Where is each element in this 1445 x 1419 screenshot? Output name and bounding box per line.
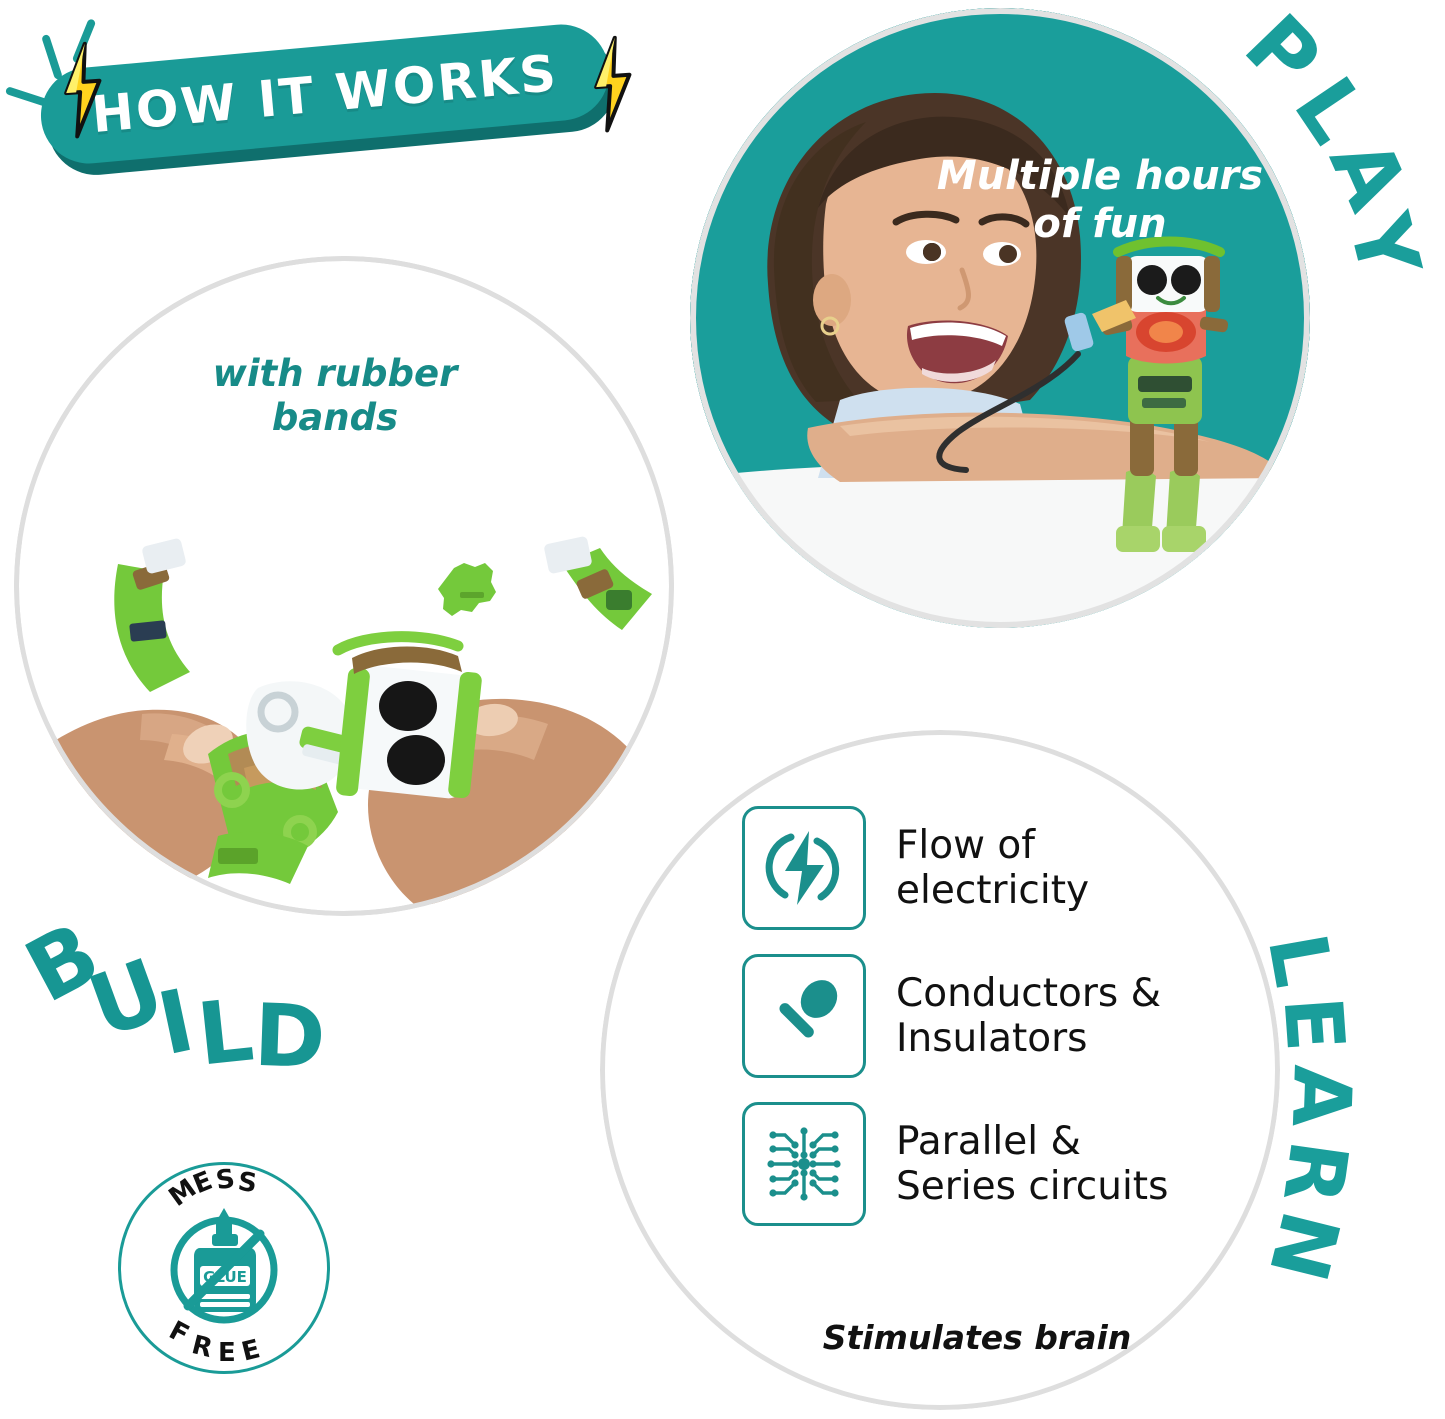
play-label: P L A Y: [1212, 4, 1445, 294]
stimulates-brain-text: Stimulates brain: [742, 1318, 1212, 1357]
build-letter: L: [194, 987, 258, 1078]
play-letter: A: [1317, 127, 1420, 221]
learn-text-line1: Parallel &: [896, 1119, 1081, 1164]
lightning-bolt-icon: [585, 34, 640, 133]
spoon-icon: [742, 954, 866, 1078]
learn-text-line2: Series circuits: [896, 1164, 1168, 1209]
build-letter: D: [253, 993, 327, 1081]
learn-text-line2: Insulators: [896, 1016, 1088, 1061]
learn-letter: A: [1280, 1064, 1362, 1129]
play-caption-line2: of fun: [1033, 201, 1166, 247]
learn-text-line1: Conductors &: [896, 971, 1161, 1016]
learn-text-line1: Flow of: [896, 823, 1035, 868]
learn-letter: E: [1272, 994, 1356, 1054]
learn-text-line2: electricity: [896, 868, 1089, 913]
play-letter: Y: [1336, 206, 1432, 285]
lightning-bolt-icon: [55, 40, 110, 139]
learn-feature-list: Flow of electricity Conductors & Insulat…: [742, 806, 1262, 1250]
build-caption-line1: with rubber: [213, 352, 458, 395]
infographic-stage: HOW IT WORKS: [0, 0, 1445, 1419]
mess-free-badge: GLUE M E S S F R E E: [118, 1162, 330, 1374]
learn-feature-text: Flow of electricity: [896, 823, 1089, 913]
build-caption: with rubber bands: [185, 352, 485, 439]
learn-letter: L: [1256, 928, 1344, 992]
learn-feature-row: Flow of electricity: [742, 806, 1262, 930]
learn-feature-row: Conductors & Insulators: [742, 954, 1262, 1078]
badge-bottom-word: F R E E: [118, 1162, 330, 1374]
build-caption-line2: bands: [272, 396, 398, 439]
learn-letter: R: [1271, 1136, 1359, 1208]
learn-feature-text: Parallel & Series circuits: [896, 1119, 1168, 1209]
circuit-chip-icon: [742, 1102, 866, 1226]
learn-letter: N: [1257, 1204, 1351, 1288]
learn-feature-text: Conductors & Insulators: [896, 971, 1161, 1061]
learn-feature-row: Parallel & Series circuits: [742, 1102, 1262, 1226]
electricity-bolt-icon: [742, 806, 866, 930]
build-label: B U I L D: [30, 900, 410, 1080]
learn-label: L E A R N: [1232, 920, 1422, 1310]
